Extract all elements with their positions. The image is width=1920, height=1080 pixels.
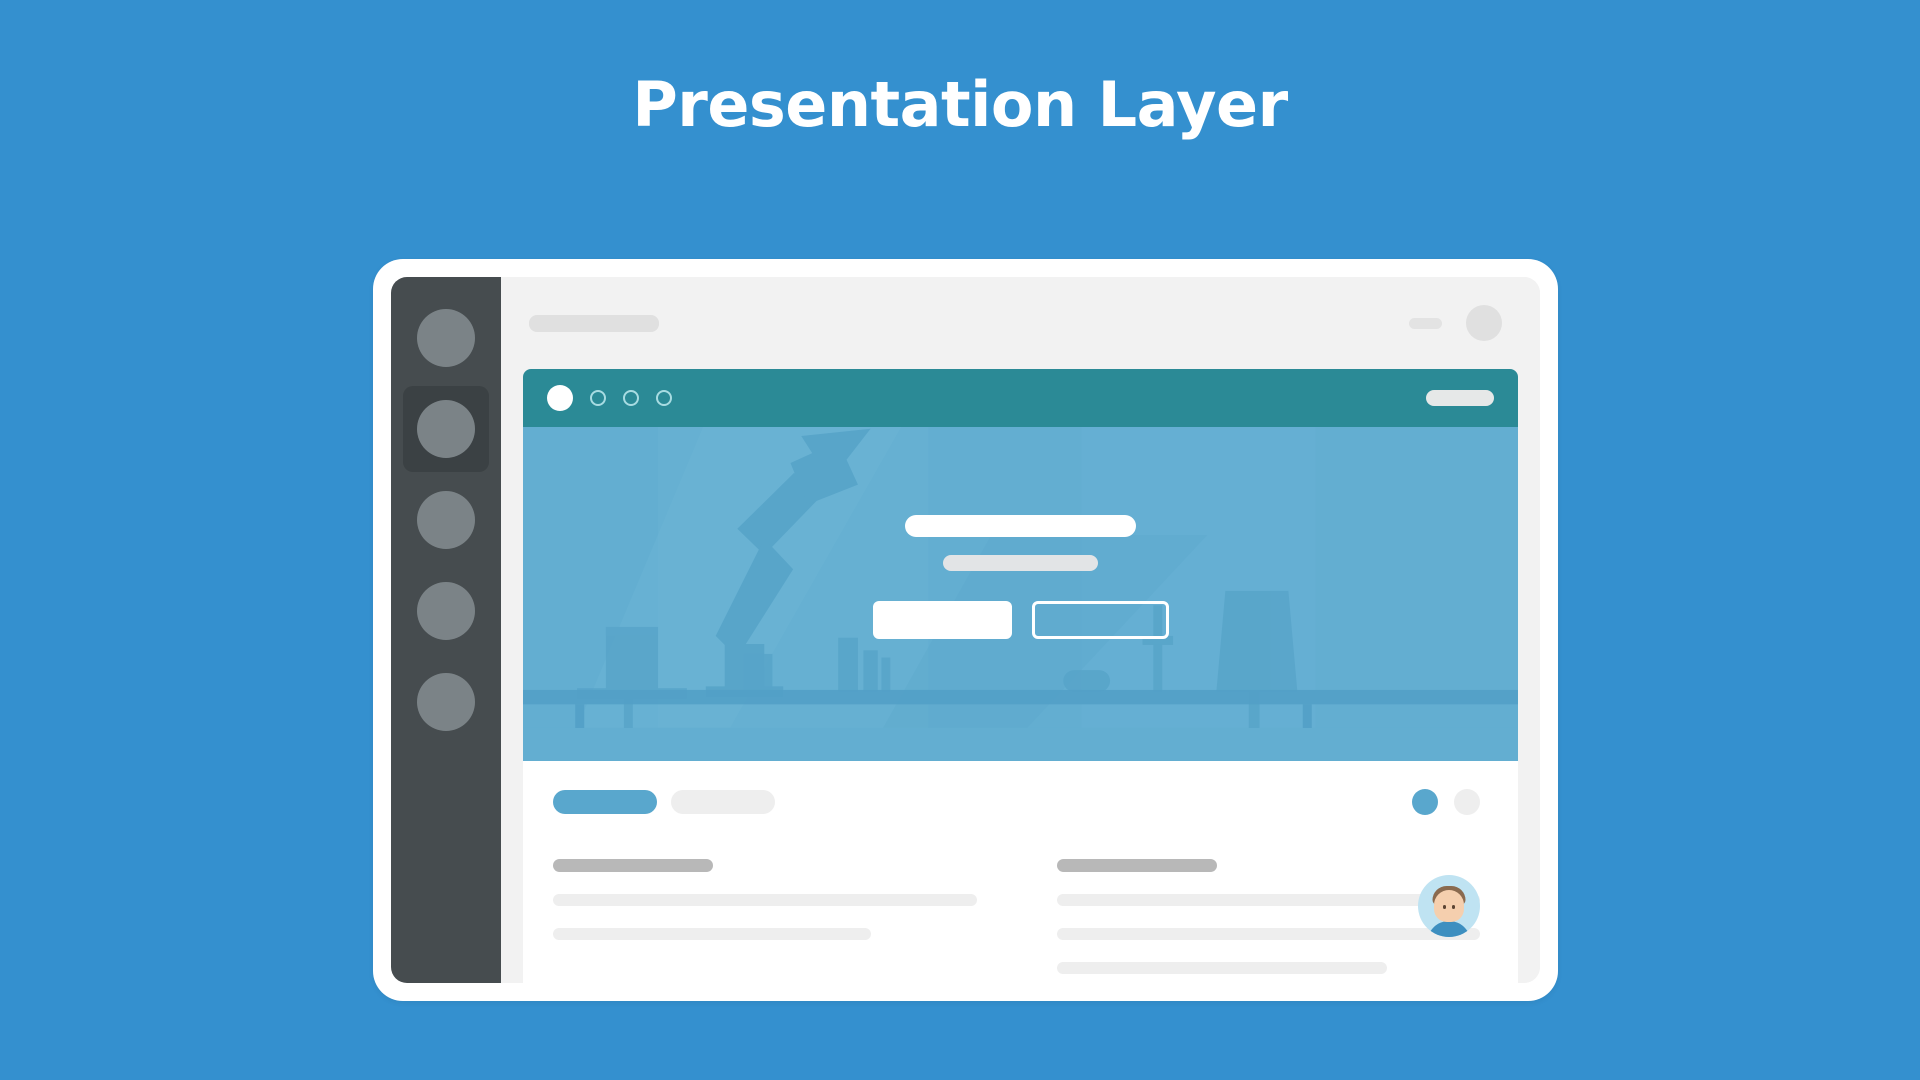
content-section [523,761,1518,983]
app-main-area [501,277,1540,983]
content-column-left [553,859,977,974]
pagination-dot-1[interactable] [1412,789,1438,815]
column-heading-placeholder [1057,859,1217,872]
browser-window [523,369,1518,983]
text-line [1057,894,1481,906]
sidebar-item-3[interactable] [403,477,489,563]
inactive-tab-dot-icon[interactable] [590,390,606,406]
inactive-tab-dot-icon[interactable] [623,390,639,406]
sidebar-item-1[interactable] [403,295,489,381]
hero-button-group [873,601,1169,639]
sidebar-item-2[interactable] [403,386,489,472]
app-header-controls [1409,305,1502,341]
browser-action-button[interactable] [1426,390,1494,406]
browser-titlebar [523,369,1518,427]
app-title-placeholder [529,315,659,332]
tab-2[interactable] [671,790,775,814]
hero-primary-button[interactable] [873,601,1012,639]
content-column-right [1057,859,1481,974]
avatar-body [1427,921,1471,937]
circle-nav-icon [417,400,475,458]
hero-content [523,515,1518,639]
profile-circle-icon[interactable] [1466,305,1502,341]
text-line [1057,928,1481,940]
avatar-eye-right [1452,905,1455,909]
hero-headline-placeholder [905,515,1136,537]
column-heading-placeholder [553,859,713,872]
active-tab-dot-icon[interactable] [547,385,573,411]
app-sidebar [391,277,501,983]
pagination-dot-2[interactable] [1454,789,1480,815]
circle-nav-icon [417,582,475,640]
avatar-eye-left [1443,905,1446,909]
device-screen [391,277,1540,983]
page-title: Presentation Layer [0,68,1920,141]
user-avatar[interactable] [1418,875,1480,937]
hero-secondary-button[interactable] [1032,601,1169,639]
hero-banner [523,427,1518,761]
text-line [553,928,871,940]
content-toolbar [553,789,1480,815]
tablet-device-frame [373,259,1558,1001]
text-line [1057,962,1387,974]
hero-subhead-placeholder [943,555,1098,571]
tab-1[interactable] [553,790,657,814]
text-line [553,894,977,906]
app-header [501,277,1540,369]
inactive-tab-dot-icon[interactable] [656,390,672,406]
pagination-dots [1412,789,1480,815]
circle-nav-icon [417,309,475,367]
circle-nav-icon [417,673,475,731]
sidebar-item-4[interactable] [403,568,489,654]
sidebar-item-5[interactable] [403,659,489,745]
content-tabs [553,790,775,814]
avatar-face [1434,890,1464,922]
circle-nav-icon [417,491,475,549]
content-columns [553,859,1480,974]
browser-tab-dots [547,385,672,411]
minimize-icon[interactable] [1409,318,1442,329]
